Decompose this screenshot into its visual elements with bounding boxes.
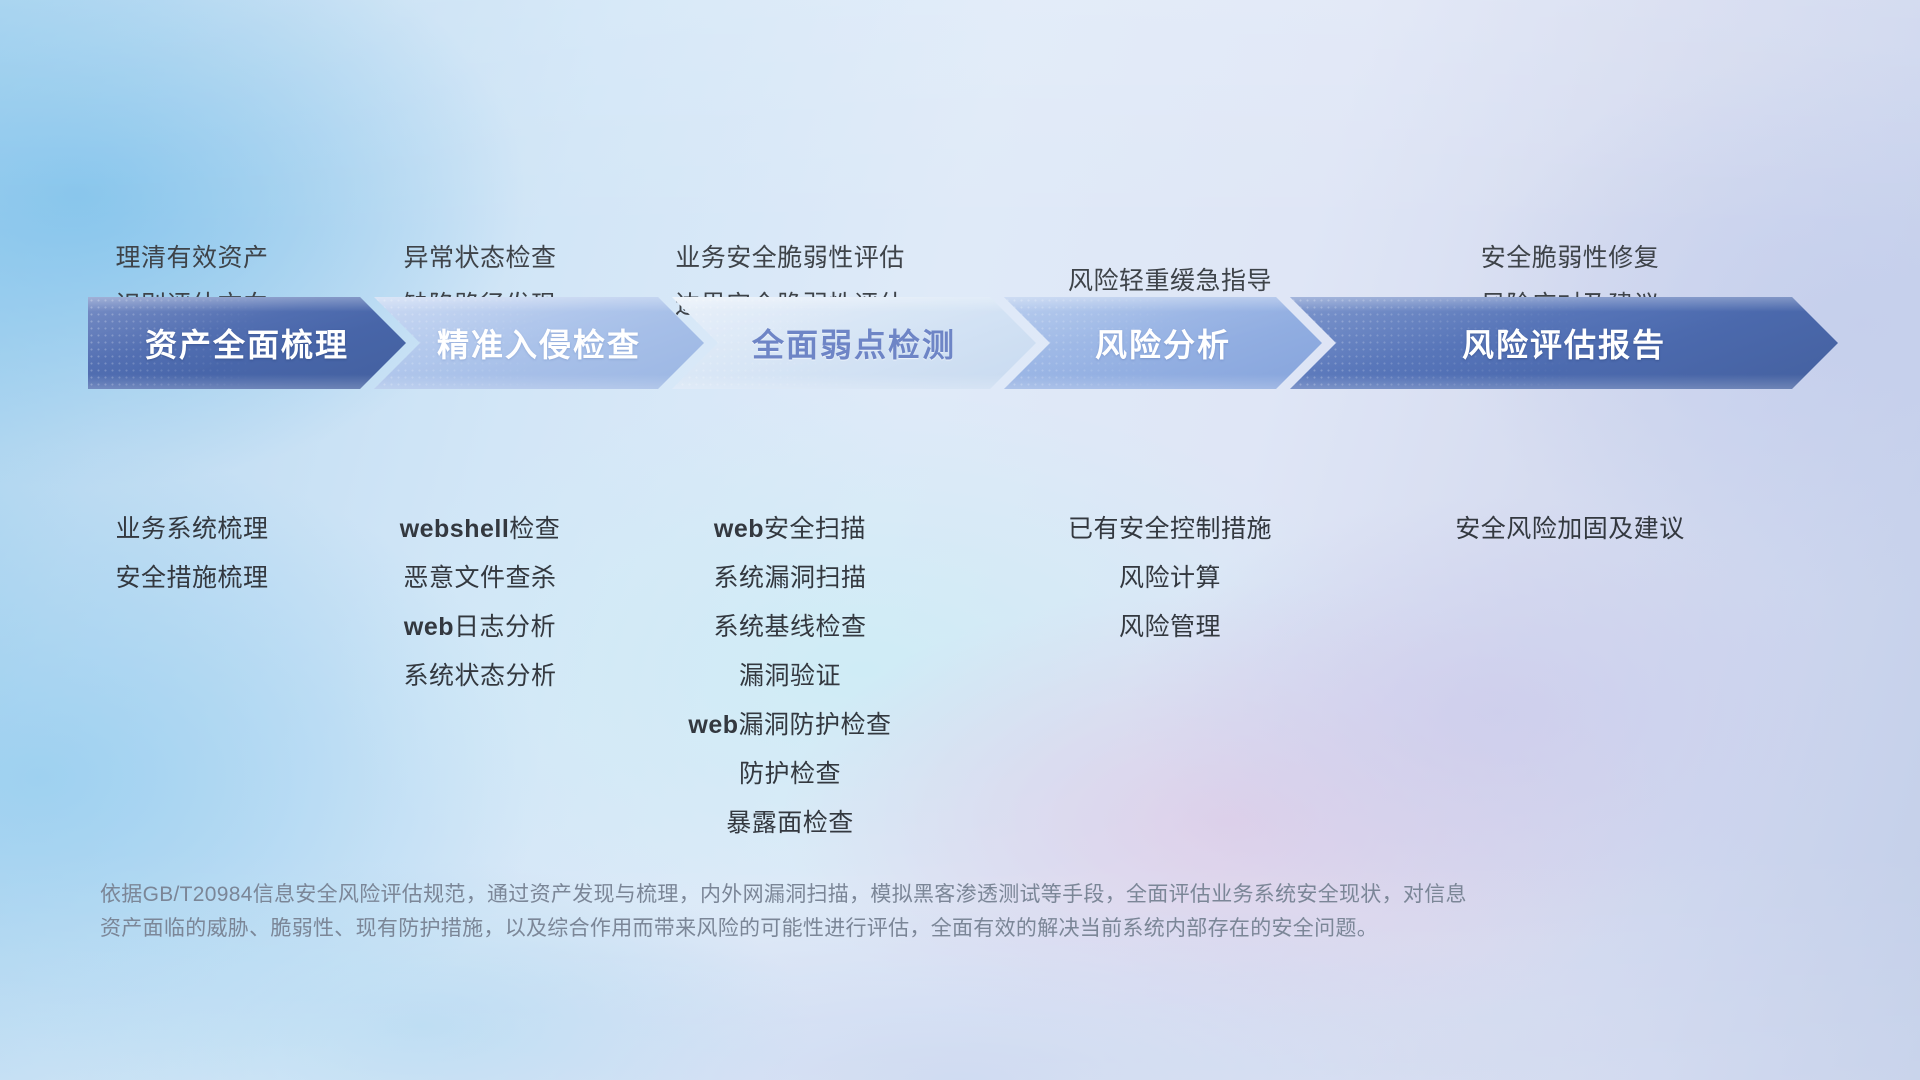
caption-text: 安全脆弱性修复 bbox=[1400, 235, 1740, 282]
caption-text: 业务安全脆弱性评估 bbox=[600, 235, 980, 282]
footer-description: 依据GB/T20984信息安全风险评估规范，通过资产发现与梳理，内外网漏洞扫描，… bbox=[100, 878, 1660, 946]
stage-items-risk-report: 安全风险加固及建议 bbox=[1390, 505, 1750, 554]
list-item-bold-prefix: web bbox=[688, 711, 738, 739]
footer-line-1: 依据GB/T20984信息安全风险评估规范，通过资产发现与梳理，内外网漏洞扫描，… bbox=[100, 878, 1660, 912]
list-item: web日志分析 bbox=[330, 603, 630, 652]
stage-title: 风险分析 bbox=[1095, 320, 1231, 366]
list-item: 业务系统梳理 bbox=[42, 505, 342, 554]
list-item: 已有安全控制措施 bbox=[1010, 505, 1330, 554]
list-item-bold-prefix: webshell bbox=[400, 515, 510, 543]
list-item: webshell检查 bbox=[330, 505, 630, 554]
stage-chevron-weakness-detection[interactable]: 全面弱点检测 bbox=[672, 297, 1036, 389]
stage-title: 风险评估报告 bbox=[1462, 320, 1666, 366]
footer-line-2: 资产面临的威胁、脆弱性、现有防护措施，以及综合作用而带来风险的可能性进行评估，全… bbox=[100, 912, 1660, 946]
stage-items-weakness-detection: web安全扫描 系统漏洞扫描 系统基线检查 漏洞验证 web漏洞防护检查 防护检… bbox=[620, 505, 960, 848]
stage-title: 资产全面梳理 bbox=[145, 320, 349, 366]
list-item: 恶意文件查杀 bbox=[330, 554, 630, 603]
stage-chevron-risk-analysis[interactable]: 风险分析 bbox=[1004, 297, 1322, 389]
stage-chevron-intrusion-check[interactable]: 精准入侵检查 bbox=[374, 297, 704, 389]
list-item-rest: 日志分析 bbox=[454, 613, 556, 641]
stage-items-asset-inventory: 业务系统梳理 安全措施梳理 bbox=[42, 505, 342, 603]
stage-title: 全面弱点检测 bbox=[752, 320, 956, 366]
caption-text: 理清有效资产 bbox=[42, 235, 342, 282]
list-item: 风险管理 bbox=[1010, 603, 1330, 652]
list-item-rest: 检查 bbox=[509, 515, 560, 543]
list-item-bold-prefix: web bbox=[714, 515, 764, 543]
list-item: 系统基线检查 bbox=[620, 603, 960, 652]
stage-chevron-risk-report[interactable]: 风险评估报告 bbox=[1290, 297, 1838, 389]
stage-items-risk-analysis: 已有安全控制措施 风险计算 风险管理 bbox=[1010, 505, 1330, 652]
list-item-bold-prefix: web bbox=[404, 613, 454, 641]
caption-text: 异常状态检查 bbox=[330, 235, 630, 282]
list-item: 防护检查 bbox=[620, 750, 960, 799]
stage-chevron-asset-inventory[interactable]: 资产全面梳理 bbox=[88, 297, 406, 389]
stage-items-intrusion-check: webshell检查 恶意文件查杀 web日志分析 系统状态分析 bbox=[330, 505, 630, 701]
list-item-rest: 漏洞防护检查 bbox=[739, 711, 892, 739]
process-stage-banner: 资产全面梳理 精准入侵检查 全面弱点检测 风险分析 风险评估报告 bbox=[0, 297, 1920, 389]
list-item: web安全扫描 bbox=[620, 505, 960, 554]
list-item: web漏洞防护检查 bbox=[620, 701, 960, 750]
list-item: 安全措施梳理 bbox=[42, 554, 342, 603]
list-item: 风险计算 bbox=[1010, 554, 1330, 603]
stage-title: 精准入侵检查 bbox=[437, 320, 641, 366]
list-item: 暴露面检查 bbox=[620, 799, 960, 848]
list-item: 系统状态分析 bbox=[330, 652, 630, 701]
list-item: 漏洞验证 bbox=[620, 652, 960, 701]
list-item-rest: 安全扫描 bbox=[764, 515, 866, 543]
list-item: 系统漏洞扫描 bbox=[620, 554, 960, 603]
list-item: 安全风险加固及建议 bbox=[1390, 505, 1750, 554]
